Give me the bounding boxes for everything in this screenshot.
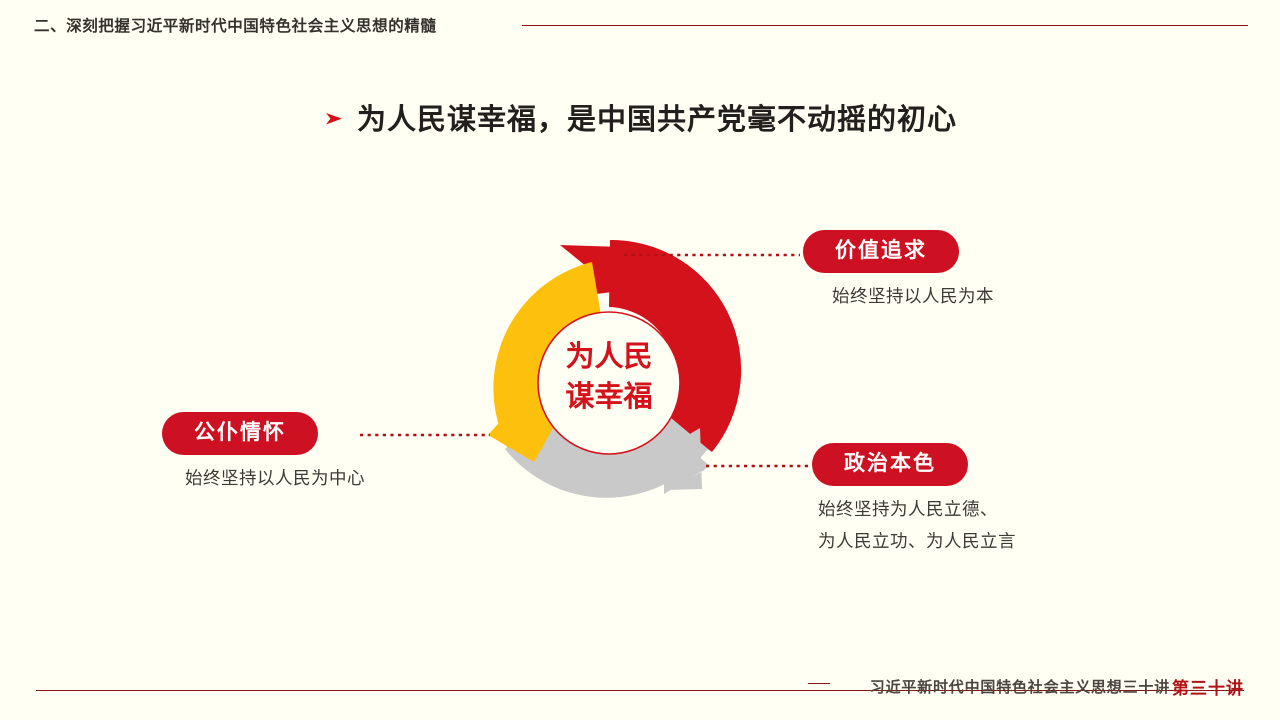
center-text-line1: 为人民: [565, 340, 652, 373]
pill-value-pursuit[interactable]: 价值追求: [803, 230, 959, 273]
political-character-arc: [505, 410, 710, 498]
page-title: 为人民谋幸福，是中国共产党毫不动摇的初心: [357, 96, 957, 138]
center-text-line2: 谋幸福: [565, 380, 652, 413]
desc-political-character-line1: 始终坚持为人民立德、: [818, 494, 1016, 524]
section-heading: 二、深刻把握习近平新时代中国特色社会主义思想的精髓: [34, 14, 437, 36]
center-disc: [538, 312, 680, 454]
footer-dash-mark: [808, 683, 830, 684]
label-group-value-pursuit: 价值追求 始终坚持以人民为本: [803, 230, 1013, 311]
servant-heart-arc: [488, 262, 601, 462]
pill-servant-heart[interactable]: 公仆情怀: [162, 412, 318, 455]
slide-title-row: 为人民谋幸福，是中国共产党毫不动摇的初心: [0, 96, 1280, 138]
header-bar: 二、深刻把握习近平新时代中国特色社会主义思想的精髓: [0, 0, 1280, 46]
label-group-political-character: 政治本色 始终坚持为人民立德、 为人民立功、为人民立言: [812, 443, 1016, 556]
label-group-servant-heart: 公仆情怀 始终坚持以人民为中心: [162, 412, 391, 493]
value-pursuit-arc: [560, 240, 741, 452]
pill-political-character[interactable]: 政治本色: [812, 443, 968, 486]
center-ring: [538, 312, 680, 454]
triangle-right-icon: [323, 108, 345, 130]
desc-value-pursuit-line1: 始终坚持以人民为本: [813, 281, 1013, 311]
desc-servant-heart-line1: 始终坚持以人民为中心: [159, 463, 391, 493]
footer-lecture-number: 第三十讲: [1172, 674, 1244, 699]
footer-series-title: 习近平新时代中国特色社会主义思想三十讲: [870, 676, 1170, 697]
desc-political-character-line2: 为人民立功、为人民立言: [818, 526, 1016, 556]
header-divider-line: [522, 25, 1248, 26]
